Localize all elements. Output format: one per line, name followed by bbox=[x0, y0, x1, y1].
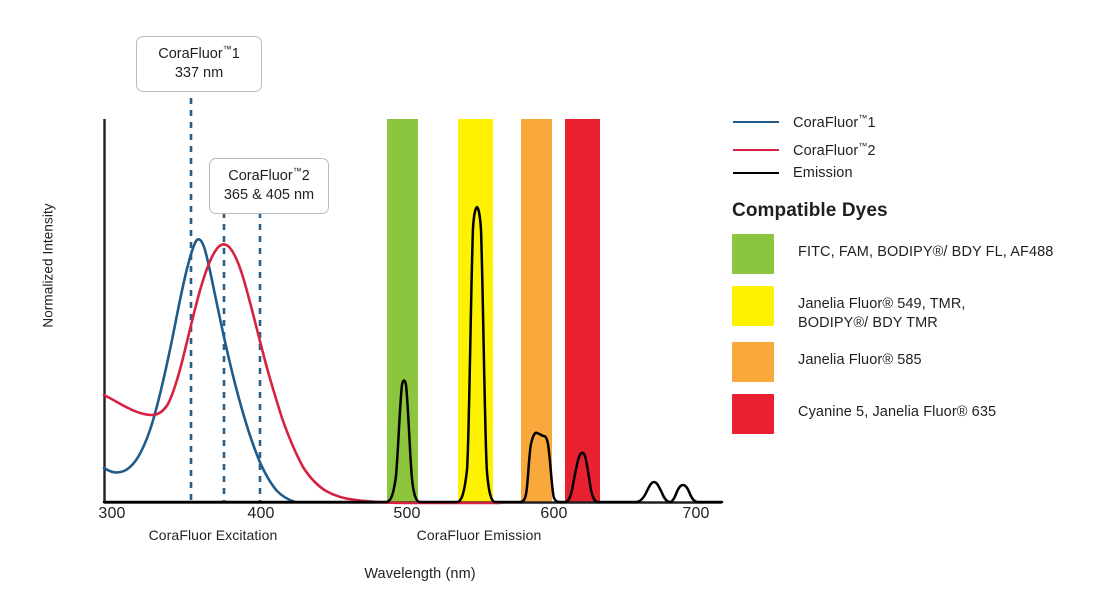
callout-corafluor1-index: 1 bbox=[232, 46, 240, 62]
callout-corafluor2-line2: 365 & 405 nm bbox=[222, 186, 316, 205]
dye-label-green: FITC, FAM, BODIPY®/ BDY FL, AF488 bbox=[798, 234, 1053, 262]
callout-corafluor2-tm: ™ bbox=[293, 166, 302, 176]
curve-corafluor2-excitation bbox=[104, 244, 500, 503]
legend-label-corafluor1-index: 1 bbox=[867, 115, 875, 131]
dye-label-yellow: Janelia Fluor® 549, TMR, BODIPY®/ BDY TM… bbox=[798, 286, 966, 333]
y-axis-title: Normalized Intensity bbox=[41, 186, 56, 346]
chart-area: Normalized Intensity 300 400 500 600 700… bbox=[0, 0, 730, 612]
callout-corafluor1-name: CoraFluor bbox=[158, 46, 222, 62]
legend-label-corafluor1: CoraFluor™1 bbox=[793, 113, 876, 131]
legend-item-corafluor1: CoraFluor™1 bbox=[733, 113, 876, 131]
curve-corafluor1-excitation bbox=[104, 239, 295, 502]
dye-item-orange: Janelia Fluor® 585 bbox=[732, 342, 922, 382]
x-axis-title: Wavelength (nm) bbox=[235, 566, 605, 582]
region-label-excitation: CoraFluor Excitation bbox=[83, 527, 343, 543]
green-band bbox=[387, 119, 418, 503]
legend-line-swatch-corafluor1 bbox=[733, 121, 779, 123]
dye-item-yellow: Janelia Fluor® 549, TMR, BODIPY®/ BDY TM… bbox=[732, 286, 966, 333]
excitation-marker-lines bbox=[191, 86, 260, 502]
dye-swatch-orange bbox=[732, 342, 774, 382]
callout-corafluor1: CoraFluor™1 337 nm bbox=[136, 36, 262, 92]
dye-swatch-red bbox=[732, 394, 774, 434]
callout-corafluor2-index: 2 bbox=[302, 168, 310, 184]
callout-corafluor1-line1: CoraFluor™1 bbox=[149, 44, 249, 64]
callout-corafluor1-line2: 337 nm bbox=[149, 64, 249, 83]
legend-panel: CoraFluor™1 CoraFluor™2 Emission Compati… bbox=[730, 0, 1110, 612]
x-tick-600: 600 bbox=[524, 505, 584, 523]
region-label-emission: CoraFluor Emission bbox=[349, 527, 609, 543]
compatible-dyes-heading: Compatible Dyes bbox=[732, 200, 888, 222]
legend-line-swatch-corafluor2 bbox=[733, 149, 779, 151]
legend-line-swatch-emission bbox=[733, 172, 779, 174]
x-tick-500: 500 bbox=[377, 505, 437, 523]
dye-bands bbox=[387, 119, 600, 503]
x-tick-700: 700 bbox=[666, 505, 726, 523]
red-band bbox=[565, 119, 600, 503]
dye-item-red: Cyanine 5, Janelia Fluor® 635 bbox=[732, 394, 996, 434]
legend-label-corafluor1-name: CoraFluor bbox=[793, 115, 858, 131]
callout-corafluor1-tm: ™ bbox=[223, 44, 232, 54]
callout-corafluor2-name: CoraFluor bbox=[228, 168, 292, 184]
yellow-band bbox=[458, 119, 493, 503]
dye-label-red: Cyanine 5, Janelia Fluor® 635 bbox=[798, 394, 996, 422]
dye-swatch-yellow bbox=[732, 286, 774, 326]
legend-label-corafluor2-index: 2 bbox=[867, 143, 875, 159]
figure-root: Normalized Intensity 300 400 500 600 700… bbox=[0, 0, 1110, 612]
x-tick-400: 400 bbox=[231, 505, 291, 523]
x-tick-300: 300 bbox=[82, 505, 142, 523]
dye-label-orange: Janelia Fluor® 585 bbox=[798, 342, 922, 370]
callout-corafluor2-line1: CoraFluor™2 bbox=[222, 166, 316, 186]
dye-item-green: FITC, FAM, BODIPY®/ BDY FL, AF488 bbox=[732, 234, 1053, 274]
dye-swatch-green bbox=[732, 234, 774, 274]
legend-item-corafluor2: CoraFluor™2 bbox=[733, 141, 876, 159]
callout-corafluor2: CoraFluor™2 365 & 405 nm bbox=[209, 158, 329, 214]
legend-label-corafluor2: CoraFluor™2 bbox=[793, 141, 876, 159]
legend-label-corafluor2-name: CoraFluor bbox=[793, 143, 858, 159]
legend-item-emission: Emission bbox=[733, 165, 853, 181]
legend-label-emission: Emission bbox=[793, 165, 853, 181]
